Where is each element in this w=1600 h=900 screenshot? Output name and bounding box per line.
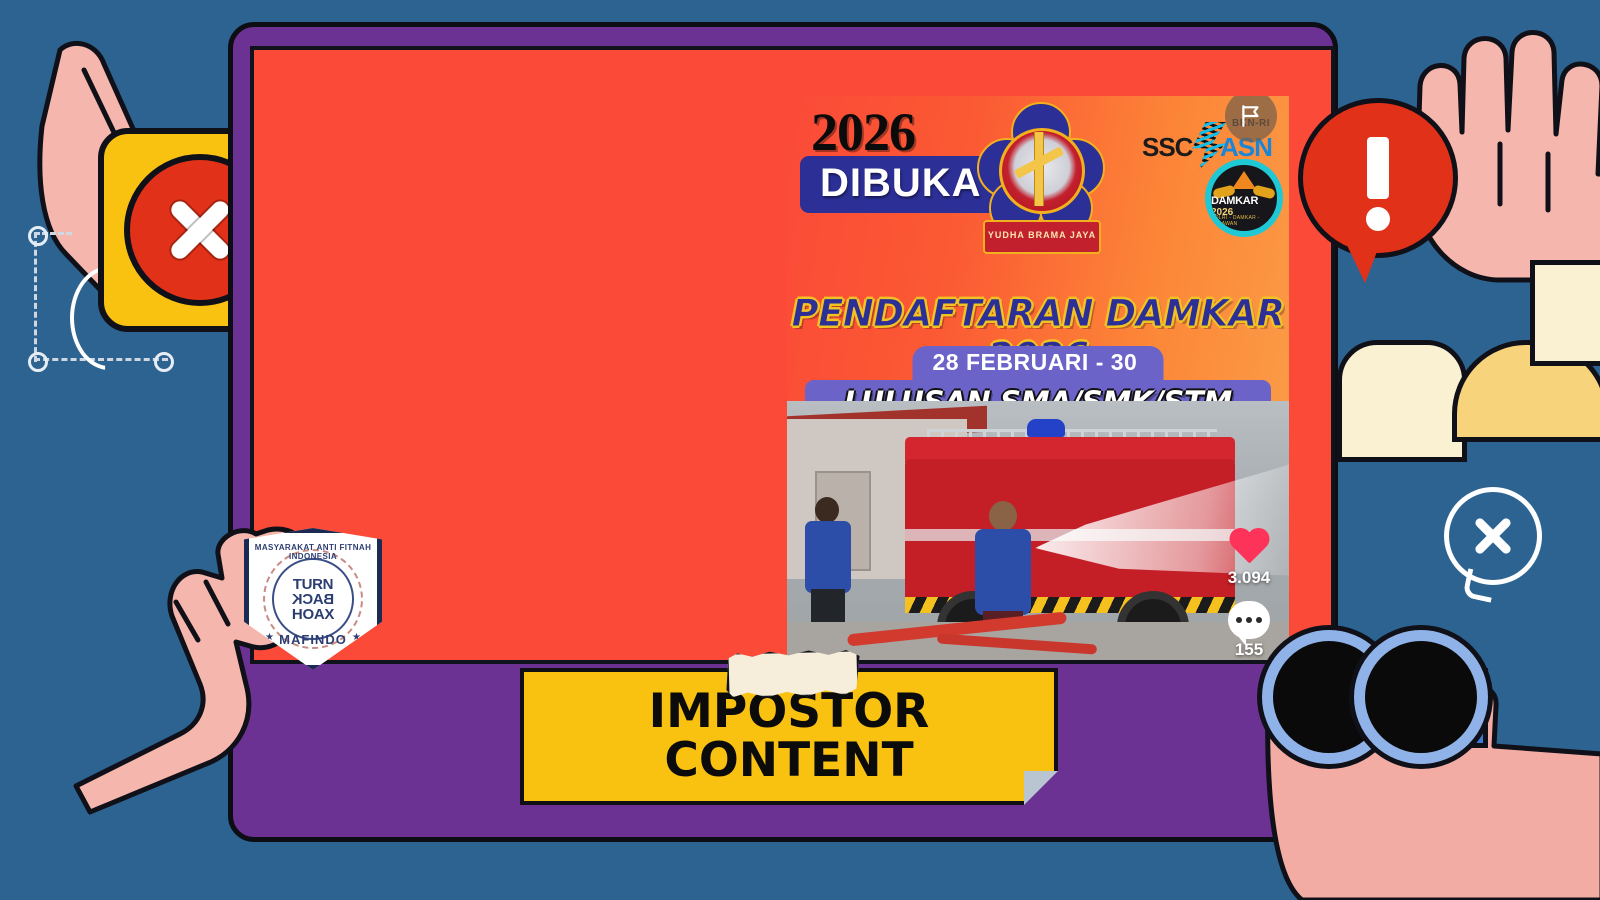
avatar-arc-text: POLRI - DAMKAR - RELAWAN: [1211, 215, 1277, 227]
corner-fold: [1024, 771, 1058, 805]
x-bubble-icon: [1444, 487, 1542, 585]
year-badge: 2026: [811, 101, 915, 163]
screen: 2026 DIBUKA YUDHA BRAMA JAYA SSC BKN-RI …: [250, 46, 1335, 664]
sscasn-primary: SSC: [1142, 132, 1192, 163]
crest-ribbon-text: YUDHA BRAMA JAYA: [985, 222, 1099, 248]
canvas: 2026 DIBUKA YUDHA BRAMA JAYA SSC BKN-RI …: [0, 0, 1600, 900]
firefighter-background: [805, 497, 851, 627]
flame-icon: [1232, 171, 1256, 189]
sleeve-shape: [1337, 340, 1467, 462]
badge-line-1: TURN: [292, 577, 334, 592]
badge-outer-text: MASYARAKAT ANTI FITNAH INDONESIA: [249, 543, 377, 561]
badge-line-2: BACK: [292, 592, 334, 607]
status-badge: DIBUKA: [800, 156, 1002, 213]
like-metric[interactable]: 3.094: [1217, 526, 1281, 588]
damkar-crest-icon: YUDHA BRAMA JAYA: [977, 102, 1103, 254]
warning-bubble: [1298, 98, 1458, 258]
tape-strip: [725, 648, 860, 699]
binoculars-icon: [1262, 630, 1512, 750]
verdict-line-2: CONTENT: [664, 737, 913, 785]
verdict-line-1: IMPOSTOR: [649, 688, 930, 736]
badge-line-3: HOAX: [292, 607, 334, 622]
tiktok-post: 2026 DIBUKA YUDHA BRAMA JAYA SSC BKN-RI …: [787, 96, 1289, 664]
heart-icon: [1228, 529, 1270, 567]
avatar-name: DAMKAR: [1211, 195, 1277, 207]
avatar[interactable]: DAMKAR 2026 POLRI - DAMKAR - RELAWAN: [1207, 161, 1281, 235]
video-frame[interactable]: [787, 401, 1289, 664]
like-count: 3.094: [1217, 568, 1281, 588]
flag-icon: [1238, 103, 1264, 129]
poster-header: 2026 DIBUKA YUDHA BRAMA JAYA SSC BKN-RI …: [787, 96, 1289, 401]
collar-shape: [1530, 260, 1600, 366]
